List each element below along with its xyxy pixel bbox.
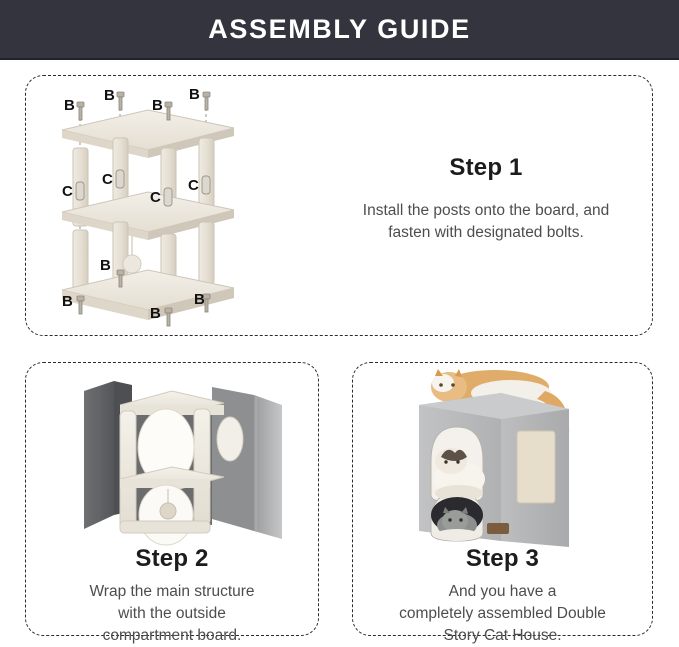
part-label-c: C xyxy=(102,172,113,187)
part-label-c: C xyxy=(62,184,73,199)
part-label-b: B xyxy=(104,88,115,103)
step-2-body-line-2: with the outside xyxy=(36,603,308,625)
part-label-b: B xyxy=(189,87,200,102)
page-title: ASSEMBLY GUIDE xyxy=(208,14,470,45)
step-2-illustration xyxy=(44,369,302,557)
step-1-illustration: B B B B C C C C B B B B xyxy=(48,84,313,332)
cat-lower-compartment xyxy=(431,497,483,541)
step-1-panel: B B B B C C C C B B B B Step 1 Install t… xyxy=(25,75,653,336)
step-1-caption: Step 1 Install the posts onto the board,… xyxy=(326,154,646,244)
part-label-b: B xyxy=(194,292,205,307)
page-header: ASSEMBLY GUIDE xyxy=(0,0,679,60)
step-3-caption: Step 3 And you have a completely assembl… xyxy=(361,545,644,647)
step-3-body-line-2: completely assembled Double xyxy=(361,603,644,625)
step-2-body-line-1: Wrap the main structure xyxy=(36,581,308,603)
part-label-b: B xyxy=(150,306,161,321)
part-label-b: B xyxy=(100,258,111,273)
step-3-panel: Step 3 And you have a completely assembl… xyxy=(352,362,653,636)
step-3-illustration xyxy=(383,365,623,557)
step-2-title: Step 2 xyxy=(36,545,308,573)
step-2-body-line-3: compartment board. xyxy=(36,625,308,647)
cat-tower-with-felt-panels xyxy=(44,369,302,557)
part-label-b: B xyxy=(64,98,75,113)
step-1-title: Step 1 xyxy=(326,154,646,182)
step-3-title: Step 3 xyxy=(361,545,644,573)
step-1-body-line-2: fasten with designated bolts. xyxy=(326,222,646,244)
step-2-panel: Step 2 Wrap the main structure with the … xyxy=(25,362,319,636)
step-2-caption: Step 2 Wrap the main structure with the … xyxy=(36,545,308,647)
part-label-c: C xyxy=(188,178,199,193)
step-1-body-line-1: Install the posts onto the board, and xyxy=(326,200,646,222)
assembled-cat-house-with-cats xyxy=(383,365,623,557)
cat-tower-frame-diagram xyxy=(48,84,313,332)
part-label-b: B xyxy=(152,98,163,113)
step-3-body-line-1: And you have a xyxy=(361,581,644,603)
part-label-c: C xyxy=(150,190,161,205)
step-3-body-line-3: Story Cat House. xyxy=(361,625,644,647)
part-label-b: B xyxy=(62,294,73,309)
